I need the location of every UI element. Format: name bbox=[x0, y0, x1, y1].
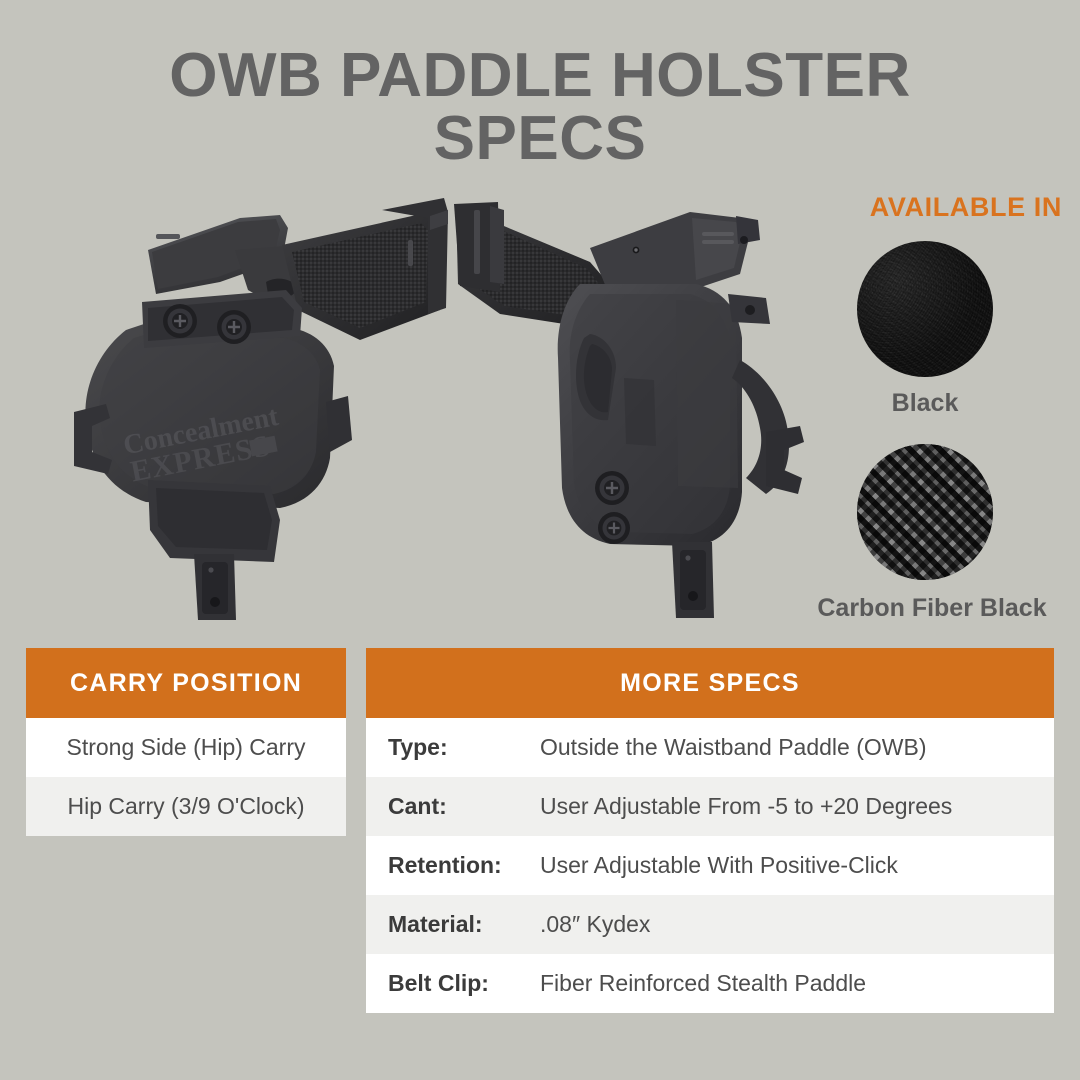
table-row: Strong Side (Hip) Carry bbox=[26, 718, 346, 777]
carbon-fiber-swatch-icon bbox=[857, 444, 993, 580]
carry-position-value: Strong Side (Hip) Carry bbox=[66, 734, 305, 761]
table-row: Hip Carry (3/9 O'Clock) bbox=[26, 777, 346, 836]
carry-position-value: Hip Carry (3/9 O'Clock) bbox=[68, 793, 305, 820]
holster-left-paddle-side: Concealment EXPRESS bbox=[30, 190, 450, 630]
more-specs-table: MORE SPECS Type: Outside the Waistband P… bbox=[366, 648, 1054, 1013]
spec-value: Fiber Reinforced Stealth Paddle bbox=[540, 970, 866, 997]
spec-label: Belt Clip: bbox=[388, 970, 540, 997]
color-option-label: Black bbox=[780, 389, 1070, 418]
color-option-black[interactable]: Black bbox=[780, 241, 1070, 418]
table-row: Material: .08″ Kydex bbox=[366, 895, 1054, 954]
table-row: Cant: User Adjustable From -5 to +20 Deg… bbox=[366, 777, 1054, 836]
spec-value: Outside the Waistband Paddle (OWB) bbox=[540, 734, 927, 761]
spec-value: User Adjustable From -5 to +20 Degrees bbox=[540, 793, 952, 820]
carry-position-table: CARRY POSITION Strong Side (Hip) Carry H… bbox=[26, 648, 346, 836]
spec-value: .08″ Kydex bbox=[540, 911, 650, 938]
spec-label: Material: bbox=[388, 911, 540, 938]
spec-label: Retention: bbox=[388, 852, 540, 879]
black-swatch-icon bbox=[857, 241, 993, 377]
page-title: OWB PADDLE HOLSTER SPECS bbox=[0, 44, 1080, 170]
more-specs-header: MORE SPECS bbox=[366, 648, 1054, 718]
color-option-carbon-fiber-black[interactable]: Carbon Fiber Black bbox=[780, 444, 1070, 623]
table-row: Type: Outside the Waistband Paddle (OWB) bbox=[366, 718, 1054, 777]
page-title-line-2: SPECS bbox=[0, 107, 1080, 170]
table-row: Retention: User Adjustable With Positive… bbox=[366, 836, 1054, 895]
spec-label: Cant: bbox=[388, 793, 540, 820]
spec-value: User Adjustable With Positive-Click bbox=[540, 852, 898, 879]
table-row: Belt Clip: Fiber Reinforced Stealth Padd… bbox=[366, 954, 1054, 1013]
carry-position-header: CARRY POSITION bbox=[26, 648, 346, 718]
color-option-label: Carbon Fiber Black bbox=[794, 594, 1070, 623]
spec-label: Type: bbox=[388, 734, 540, 761]
available-in-heading: AVAILABLE IN bbox=[780, 192, 1070, 223]
available-in-panel: AVAILABLE IN Black Carbon Fiber Black bbox=[780, 192, 1070, 623]
page-title-line-1: OWB PADDLE HOLSTER bbox=[0, 44, 1080, 107]
